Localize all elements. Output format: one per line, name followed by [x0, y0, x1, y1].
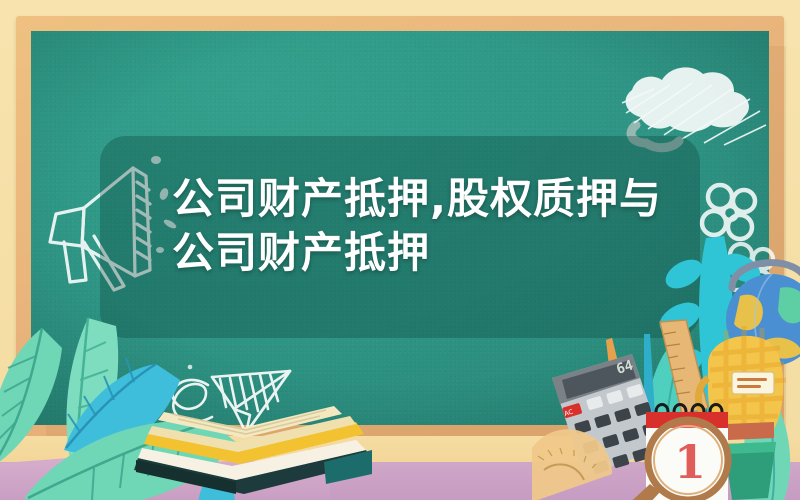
title-line-1: 公司财产抵押,股权质押与: [172, 172, 692, 226]
cup-icon: [724, 442, 776, 500]
banner-image: 公司财产抵押,股权质押与 公司财产抵押: [0, 0, 800, 500]
title-line-2: 公司财产抵押: [172, 226, 692, 280]
stacked-books: [128, 398, 378, 500]
page-title: 公司财产抵押,股权质押与 公司财产抵押: [172, 172, 692, 280]
desk-stationery-group: 64 AC: [540, 320, 800, 500]
